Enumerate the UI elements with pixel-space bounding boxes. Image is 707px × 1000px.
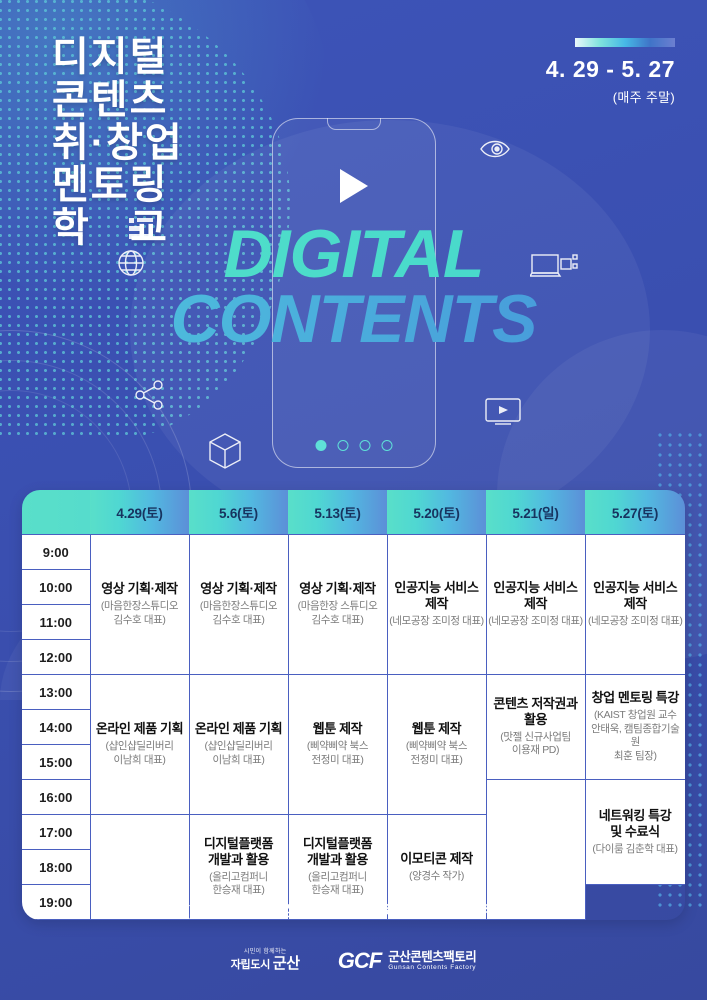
- logo-gunsan-subtitle: 자립도시 군산: [231, 956, 300, 973]
- session-title: 영상 기획·제작: [92, 581, 188, 597]
- session-title-line-1: 콘텐츠 저작권과: [493, 696, 577, 711]
- session-title: 영상 기획·제작: [290, 581, 386, 597]
- logo-gcf: GCF 군산콘텐츠팩토리 Gunsan Contents Factory: [338, 948, 476, 974]
- session-title-line-1: 인공지능 서비스: [593, 580, 677, 595]
- session-sub-line-1: (KAIST 창업원 교수: [594, 709, 677, 721]
- wordart-line-2: CONTENTS: [0, 287, 707, 352]
- session-sub: (맛젤 신규사업팀 이용재 PD): [488, 731, 584, 758]
- session-title: 콘텐츠 저작권과 활용: [488, 696, 584, 728]
- session-sub-line-1: (샵인샵딜리버리: [205, 740, 273, 752]
- session-sub-line-2: 김수호 대표): [312, 614, 364, 626]
- session-sub-line-2: 이남희 대표): [213, 754, 265, 766]
- session-empty-c5: [486, 780, 585, 920]
- session-sub: (삐약삐약 북스 전정미 대표): [290, 740, 386, 767]
- time-label-1200: 12:00: [22, 640, 90, 675]
- time-label-1800: 18:00: [22, 850, 90, 885]
- poster-title: 디지털 콘텐츠 취·창업 멘토링 학 교: [52, 36, 184, 250]
- session-copyright-c5[interactable]: 콘텐츠 저작권과 활용 (맛젤 신규사업팀 이용재 PD): [486, 675, 585, 780]
- session-sub: (네모공장 조미정 대표): [389, 615, 485, 629]
- play-icon: [340, 169, 368, 203]
- date-range: 4. 29 - 5. 27: [546, 56, 675, 83]
- eye-icon: [478, 135, 512, 163]
- session-sub: (삐약삐약 북스 전정미 대표): [389, 740, 485, 767]
- session-title: 네트워킹 특강 및 수료식: [587, 808, 684, 840]
- session-title: 창업 멘토링 특강: [587, 690, 685, 706]
- video-player-icon: [484, 396, 522, 426]
- title-line-4: 멘토링: [52, 164, 184, 207]
- carousel-dot-4[interactable]: [382, 440, 393, 451]
- table-row: 13:00 온라인 제품 기획 (샵인샵딜리버리 이남희 대표) 온라인 제품 …: [22, 675, 685, 710]
- session-sub: (다이룸 김춘학 대표): [587, 843, 684, 857]
- session-sub: (마음한장스튜디오 김수호 대표): [191, 600, 287, 627]
- table-row: 9:00 영상 기획·제작 (마음한장스튜디오 김수호 대표) 영상 기획·제작…: [22, 535, 685, 570]
- logo-gunsan: 시민이 함께하는 자립도시 군산: [231, 949, 300, 972]
- date-block: 4. 29 - 5. 27 (매주 주말): [546, 38, 675, 106]
- session-title: 디지털플랫폼 개발과 활용: [290, 836, 386, 868]
- session-sub-line-2: 한승재 대표): [312, 884, 364, 896]
- session-title-line-1: 인공지능 서비스: [493, 580, 577, 595]
- wordart-digital-contents: DIGITAL CONTENTS: [0, 222, 707, 382]
- time-label-1700: 17:00: [22, 815, 90, 850]
- session-sub-line-1: (마음한장스튜디오: [101, 600, 178, 612]
- session-title: 디지털플랫폼 개발과 활용: [191, 836, 287, 868]
- poster-root: 디지털 콘텐츠 취·창업 멘토링 학 교 4. 29 - 5. 27 (매주 주…: [0, 0, 707, 1000]
- title-line-3: 취·창업: [52, 122, 184, 165]
- session-title-line-2: 개발과 활용: [208, 852, 269, 867]
- schedule-table: 4.29(토) 5.6(토) 5.13(토) 5.20(토) 5.21(일) 5…: [22, 490, 685, 920]
- schedule-card: 4.29(토) 5.6(토) 5.13(토) 5.20(토) 5.21(일) 5…: [22, 490, 685, 920]
- session-title: 인공지능 서비스 제작: [488, 580, 584, 612]
- session-video-prod-c2[interactable]: 영상 기획·제작 (마음한장스튜디오 김수호 대표): [189, 535, 288, 675]
- carousel-dot-2[interactable]: [338, 440, 349, 451]
- session-sub-line-2: 안태욱, 캠팀종합기술원: [591, 723, 679, 749]
- session-title-line-1: 디지털플랫폼: [303, 836, 372, 851]
- wordart-line-1: DIGITAL: [0, 222, 707, 287]
- session-networking-c6[interactable]: 네트워킹 특강 및 수료식 (다이룸 김춘학 대표): [585, 780, 685, 885]
- session-webtoon-c4[interactable]: 웹툰 제작 (삐약삐약 북스 전정미 대표): [387, 675, 486, 815]
- session-title-line-2: 개발과 활용: [307, 852, 368, 867]
- session-ai-service-c6[interactable]: 인공지능 서비스 제작 (네모공장 조미정 대표): [585, 535, 685, 675]
- schedule-date-3: 5.13(토): [288, 490, 387, 535]
- session-webtoon-c3[interactable]: 웹툰 제작 (삐약삐약 북스 전정미 대표): [288, 675, 387, 815]
- session-title: 인공지능 서비스 제작: [587, 580, 685, 612]
- session-title: 온라인 제품 기획: [92, 721, 188, 737]
- schedule-date-5: 5.21(일): [486, 490, 585, 535]
- session-title-line-1: 인공지능 서비스: [394, 580, 478, 595]
- session-sub-line-2: 이남희 대표): [114, 754, 166, 766]
- session-sub-line-1: (삐약삐약 북스: [406, 740, 467, 752]
- session-title-line-2: 활용: [524, 712, 547, 727]
- session-sub-line-1: (마음한장스튜디오: [200, 600, 277, 612]
- session-title: 온라인 제품 기획: [191, 721, 287, 737]
- session-title: 인공지능 서비스 제작: [389, 580, 485, 612]
- gradient-bar: [575, 38, 675, 47]
- session-title: 웹툰 제작: [290, 721, 386, 737]
- session-sub: (네모공장 조미정 대표): [488, 615, 584, 629]
- session-title: 웹툰 제작: [389, 721, 485, 737]
- session-sub-line-1: (삐약삐약 북스: [307, 740, 368, 752]
- logo-gcf-english: Gunsan Contents Factory: [388, 964, 476, 971]
- session-sub-line-2: 전정미 대표): [312, 754, 364, 766]
- session-title-line-1: 디지털플랫폼: [204, 836, 273, 851]
- session-sub: (샵인샵딜리버리 이남희 대표): [92, 740, 188, 767]
- session-video-prod-c3[interactable]: 영상 기획·제작 (마음한장 스튜디오 김수호 대표): [288, 535, 387, 675]
- carousel-dots: [316, 440, 393, 451]
- cube-icon: [205, 430, 245, 474]
- session-title-line-2: 제작: [524, 596, 547, 611]
- session-sub: (네모공장 조미정 대표): [587, 615, 685, 629]
- schedule-time-header: [22, 490, 90, 535]
- title-line-1: 디지털: [52, 36, 184, 79]
- session-sub: (마음한장스튜디오 김수호 대표): [92, 600, 188, 627]
- time-label-1100: 11:00: [22, 605, 90, 640]
- session-sub-line-2: 한승재 대표): [213, 884, 265, 896]
- session-sub: (양경수 작가): [389, 870, 485, 884]
- schedule-date-6: 5.27(토): [585, 490, 685, 535]
- logo-gcf-names: 군산콘텐츠팩토리 Gunsan Contents Factory: [388, 950, 476, 971]
- session-title: 이모티콘 제작: [389, 851, 485, 867]
- logo-gcf-korean: 군산콘텐츠팩토리: [388, 950, 476, 964]
- carousel-dot-1[interactable]: [316, 440, 327, 451]
- logo-gcf-mark: GCF: [338, 948, 381, 974]
- session-title-line-1: 네트워킹 특강: [599, 808, 672, 823]
- logo-gunsan-tagline: 시민이 함께하는: [231, 949, 300, 956]
- session-sub-line-2: 이용재 PD): [512, 744, 559, 756]
- logo-gunsan-mid-text: 자립도시: [231, 959, 270, 971]
- session-sub: (샵인샵딜리버리 이남희 대표): [191, 740, 287, 767]
- schedule-date-2: 5.6(토): [189, 490, 288, 535]
- schedule-date-1: 4.29(토): [90, 490, 189, 535]
- session-sub-line-2: 전정미 대표): [411, 754, 463, 766]
- session-online-planning-c1[interactable]: 온라인 제품 기획 (샵인샵딜리버리 이남희 대표): [90, 675, 189, 815]
- time-label-1400: 14:00: [22, 710, 90, 745]
- carousel-dot-3[interactable]: [360, 440, 371, 451]
- session-sub-line-1: (마음한장 스튜디오: [298, 600, 378, 612]
- time-label-1500: 15:00: [22, 745, 90, 780]
- share-icon: [132, 378, 166, 412]
- session-sub-line-1: (올리고컴퍼니: [209, 871, 268, 883]
- time-label-0900: 9:00: [22, 535, 90, 570]
- session-sub: (마음한장 스튜디오 김수호 대표): [290, 600, 386, 627]
- session-sub-line-1: (맛젤 신규사업팀: [500, 731, 570, 743]
- session-ai-service-c4[interactable]: 인공지능 서비스 제작 (네모공장 조미정 대표): [387, 535, 486, 675]
- session-online-planning-c2[interactable]: 온라인 제품 기획 (샵인샵딜리버리 이남희 대표): [189, 675, 288, 815]
- session-sub-line-2: 김수호 대표): [213, 614, 265, 626]
- time-label-1300: 13:00: [22, 675, 90, 710]
- session-sub-line-2: 김수호 대표): [114, 614, 166, 626]
- schedule-header-row: 4.29(토) 5.6(토) 5.13(토) 5.20(토) 5.21(일) 5…: [22, 490, 685, 535]
- logo-gunsan-name: 군산: [273, 955, 300, 972]
- session-sub: (올리고컴퍼니 한승재 대표): [290, 871, 386, 898]
- session-title-line-2: 및 수료식: [610, 824, 659, 839]
- session-ai-service-c5[interactable]: 인공지능 서비스 제작 (네모공장 조미정 대표): [486, 535, 585, 675]
- session-title-line-2: 제작: [425, 596, 448, 611]
- title-line-2: 콘텐츠: [52, 79, 184, 122]
- schedule-date-4: 5.20(토): [387, 490, 486, 535]
- date-note: (매주 주말): [546, 87, 675, 106]
- phone-notch: [327, 118, 381, 130]
- session-sub-line-1: (올리고컴퍼니: [308, 871, 367, 883]
- session-startup-mentoring-c6[interactable]: 창업 멘토링 특강 (KAIST 창업원 교수 안태욱, 캠팀종합기술원 최훈 …: [585, 675, 685, 780]
- footer-note: ※ 5/27(토) 창업 멘토링 특강 및 수료식은 교육생 전원 참여해주시기…: [0, 900, 707, 921]
- session-sub-line-1: (샵인샵딜리버리: [106, 740, 174, 752]
- session-sub-line-3: 최훈 팀장): [614, 750, 657, 762]
- footer-logos: 시민이 함께하는 자립도시 군산 GCF 군산콘텐츠팩토리 Gunsan Con…: [0, 948, 707, 974]
- time-label-1000: 10:00: [22, 570, 90, 605]
- session-title: 영상 기획·제작: [191, 581, 287, 597]
- time-label-1600: 16:00: [22, 780, 90, 815]
- session-video-prod-c1[interactable]: 영상 기획·제작 (마음한장스튜디오 김수호 대표): [90, 535, 189, 675]
- session-sub: (올리고컴퍼니 한승재 대표): [191, 871, 287, 898]
- session-sub: (KAIST 창업원 교수 안태욱, 캠팀종합기술원 최훈 팀장): [587, 709, 685, 764]
- session-title-line-2: 제작: [624, 596, 647, 611]
